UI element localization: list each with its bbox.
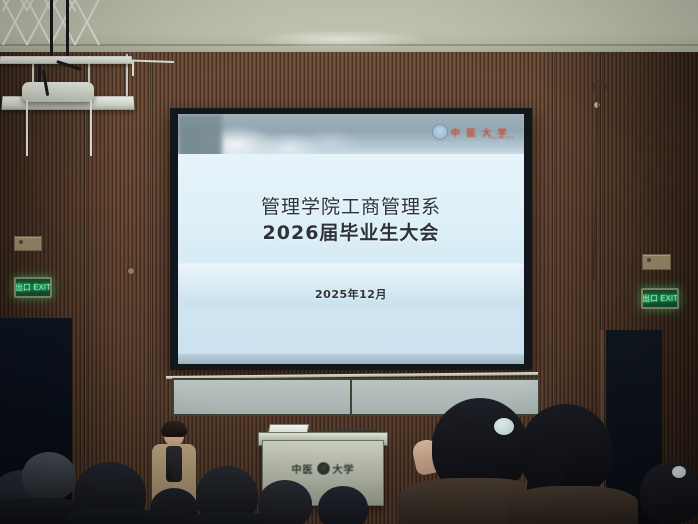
hair-tie (672, 466, 686, 478)
projector-cable (38, 64, 41, 84)
audience-shoulders (508, 486, 638, 524)
slide-bottom-edge (178, 354, 524, 364)
ceiling-light-glow (250, 30, 430, 48)
slide-body (178, 154, 524, 364)
slide-photo-shadow (178, 114, 222, 158)
slide-date: 2025年12月 (178, 286, 524, 302)
ceiling-mount-arm (132, 60, 134, 76)
slide-university-logo: 中 医 大 学 UNIVERSITY (432, 122, 516, 142)
plate-screw-icon (647, 258, 651, 262)
podium-university-name: 中医 大学 (263, 461, 383, 476)
audience-head (258, 480, 312, 524)
wall-speaker-plate-right (642, 254, 671, 270)
university-seal-icon (432, 124, 448, 140)
plate-screw-icon (19, 240, 23, 244)
wall-anchor-knob (128, 268, 134, 274)
projection-screen: 中 医 大 学 UNIVERSITY 管理学院工商管理系 2026届毕业生大会 … (178, 114, 524, 364)
exit-icon: 出口 EXIT (642, 295, 678, 303)
ceiling-projector (22, 82, 94, 102)
presenter-hair (161, 421, 187, 437)
slide-title-line1: 管理学院工商管理系 (178, 194, 524, 220)
wall-outlet-plate-left (14, 236, 42, 251)
whiteboard-left (172, 378, 352, 416)
projector-suspension-wire (26, 100, 28, 156)
slide-title: 管理学院工商管理系 2026届毕业生大会 (178, 194, 524, 246)
audience-shoulders (66, 508, 162, 524)
cable-hook-icon (593, 80, 607, 90)
exit-icon: 出口 EXIT (15, 284, 51, 292)
projector-suspension-wire (90, 100, 92, 156)
audience-head (318, 486, 368, 524)
podium-text-left: 中医 (292, 461, 314, 476)
exit-sign-left: 出口 EXIT (14, 277, 52, 298)
audience-head (22, 452, 76, 500)
hair-scrunchie (494, 418, 514, 435)
logo-text-en: UNIVERSITY (489, 136, 514, 140)
slide-title-line2: 2026届毕业生大会 (178, 220, 524, 246)
university-seal-icon (317, 462, 330, 475)
podium-text-right: 大学 (333, 461, 355, 476)
lecture-hall-photo: 出口 EXIT 出口 EXIT 中 医 大 学 UNIVERSITY 管理学院工… (0, 0, 698, 524)
exit-sign-right: 出口 EXIT (641, 288, 679, 309)
audience-head (640, 462, 698, 524)
